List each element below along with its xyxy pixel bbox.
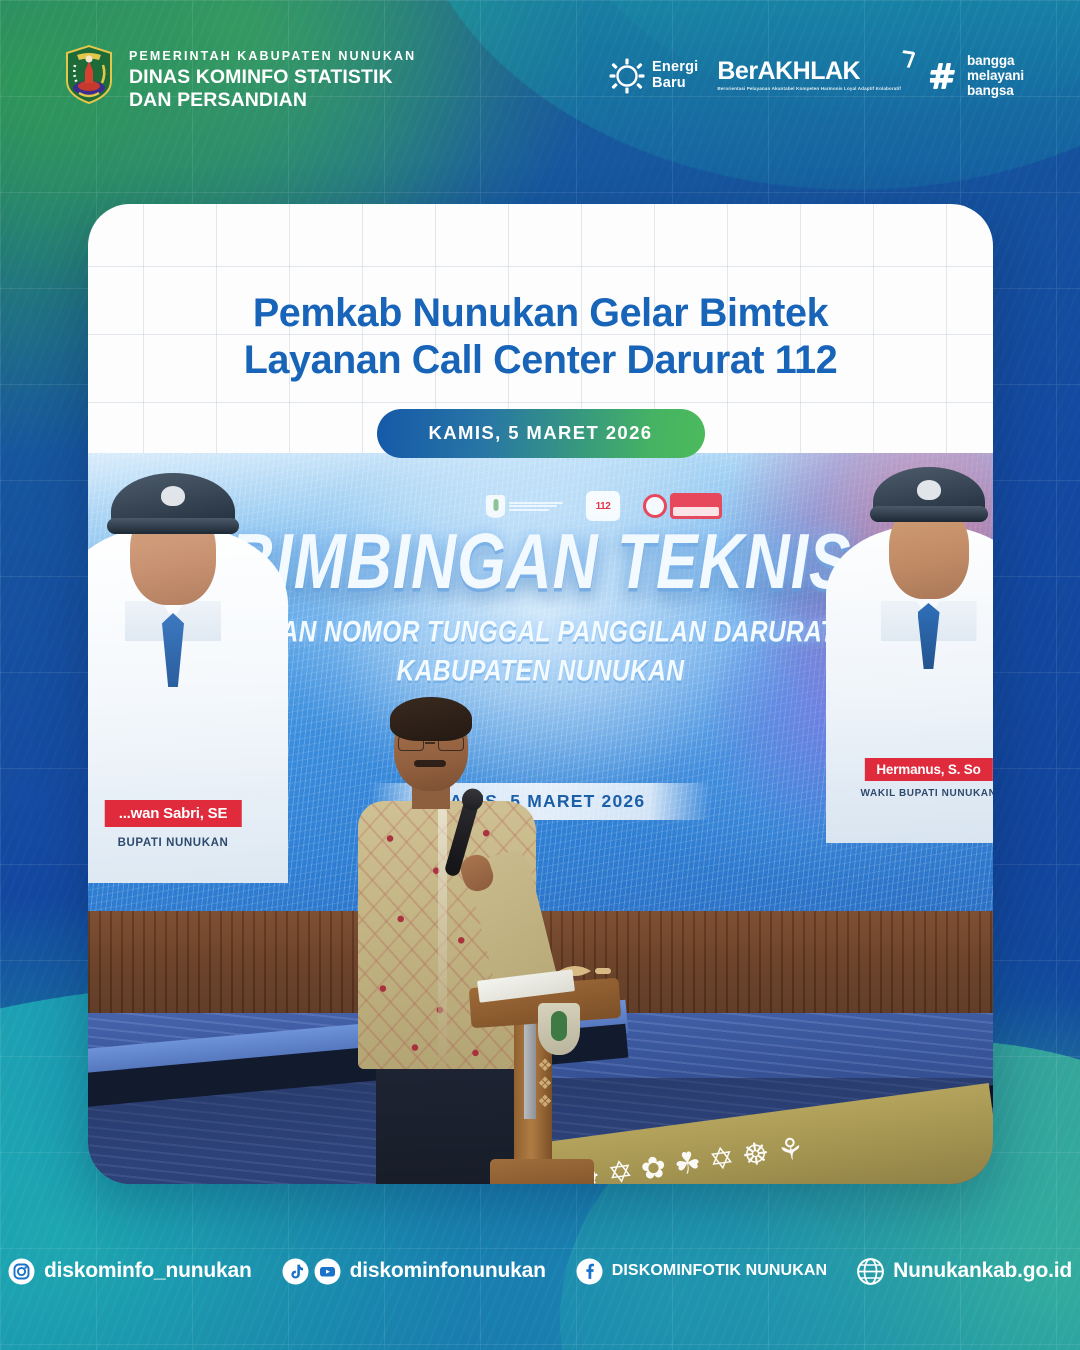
glasses-icon [398,736,464,751]
emergency-circle-icon [643,494,667,518]
page-title: Pemkab Nunukan Gelar Bimtek Layanan Call… [88,204,993,384]
page-title-line1: Pemkab Nunukan Gelar Bimtek [148,290,933,337]
podium: ❖❖❖ [488,983,608,1184]
tiktok-youtube-icon[interactable] [282,1258,341,1285]
event-photo: 112 BIMBINGAN TEKNIS LAYANAN NOMOR TUNGG… [88,453,993,1184]
globe-icon[interactable] [857,1258,884,1285]
podium-crest-icon [538,1003,580,1055]
nunukan-regency-crest-icon [63,43,115,105]
berakhlak-wordmark: BerAKHLAK [717,59,901,84]
instagram-icon[interactable] [8,1258,35,1285]
social-media-footer: diskominfo_nunukan diskominfonunukan DIS… [0,1238,1080,1304]
social-instagram[interactable]: diskominfo_nunukan [8,1258,252,1285]
portrait-wakil-bupati: Hermanus, S. So WAKIL BUPATI NUNUKAN [826,453,993,843]
instagram-handle: diskominfo_nunukan [44,1259,252,1283]
garuda-emblem-icon-right [917,480,941,500]
garuda-emblem-icon [161,486,185,506]
portrait-title-left: BUPATI NUNUKAN [118,837,229,849]
social-facebook[interactable]: DISKOMINFOTIK NUNUKAN [576,1258,827,1285]
logo-bangga-melayani-bangsa: bangga melayani bangsa [930,53,1024,98]
logo-berakhlak: BerAKHLAK Berorientasi Pelayanan Akuntab… [717,59,911,93]
facebook-icon[interactable] [576,1258,603,1285]
diskominfo-text-lines [509,502,563,511]
portrait-cap-right [873,467,985,517]
bangga-line1: bangga [967,53,1024,68]
header: PEMERINTAH KABUPATEN NUNUKAN DINAS KOMIN… [0,0,1080,150]
page-title-line2: Layanan Call Center Darurat 112 [148,337,933,384]
bangga-line2: melayani [967,68,1024,83]
diskominfo-shield-icon [486,495,505,518]
call-112-logo: 112 [586,491,620,521]
portrait-title-right: WAKIL BUPATI NUNUKAN [861,788,993,799]
podium-ornament: ❖❖❖ [534,1057,556,1157]
hashtag-icon [930,61,960,91]
berakhlak-tagline: Berorientasi Pelayanan Akuntabel Kompete… [717,86,901,93]
bangga-line3: bangsa [967,83,1024,98]
energi-baru-line1: Energi [652,60,698,75]
header-text-block: PEMERINTAH KABUPATEN NUNUKAN DINAS KOMIN… [129,43,416,112]
bangga-melayani-label: bangga melayani bangsa [967,53,1024,98]
panggilan-darurat-logo [643,493,722,519]
header-government-line: PEMERINTAH KABUPATEN NUNUKAN [129,49,416,65]
tiktok-icon [282,1258,309,1285]
date-badge-wrapper: KAMIS, 5 MARET 2026 [88,409,993,458]
berakhlak-check-icon [897,50,916,68]
card-header-area: Pemkab Nunukan Gelar Bimtek Layanan Call… [88,204,993,458]
website-url: Nunukankab.go.id [893,1259,1072,1283]
energi-baru-line2: Baru [652,76,698,91]
youtube-icon [314,1258,341,1285]
social-website[interactable]: Nunukankab.go.id [857,1258,1072,1285]
speaker-hair [390,697,472,741]
portrait-bupati: ...wan Sabri, SE BUPATI NUNUKAN [88,453,288,883]
facebook-handle: DISKOMINFOTIK NUNUKAN [612,1262,827,1280]
header-department-line: DINAS KOMINFO STATISTIK DAN PERSANDIAN [129,66,409,112]
content-card: Pemkab Nunukan Gelar Bimtek Layanan Call… [88,204,993,1184]
portrait-name-right: Hermanus, S. So [864,758,992,781]
tiktok-youtube-handle: diskominfonunukan [350,1259,546,1283]
energi-baru-icon [609,58,645,94]
podium-base [490,1159,594,1184]
speaker-moustache [414,760,446,767]
header-branding: PEMERINTAH KABUPATEN NUNUKAN DINAS KOMIN… [63,43,416,112]
portrait-cap-left [111,473,235,529]
energi-baru-label: Energi Baru [652,60,698,90]
diskominfo-nunukan-logo [486,495,563,518]
led-logo-row: 112 [486,491,722,521]
emergency-label-box [670,493,722,519]
speaker-shirt-placket [438,807,447,1065]
social-tiktok-youtube[interactable]: diskominfonunukan [282,1258,546,1285]
logo-energi-baru: Energi Baru [609,58,698,94]
partner-logos: Energi Baru BerAKHLAK Berorientasi Pelay… [609,53,1024,98]
date-badge: KAMIS, 5 MARET 2026 [377,409,705,458]
portrait-name-left: ...wan Sabri, SE [105,800,242,827]
